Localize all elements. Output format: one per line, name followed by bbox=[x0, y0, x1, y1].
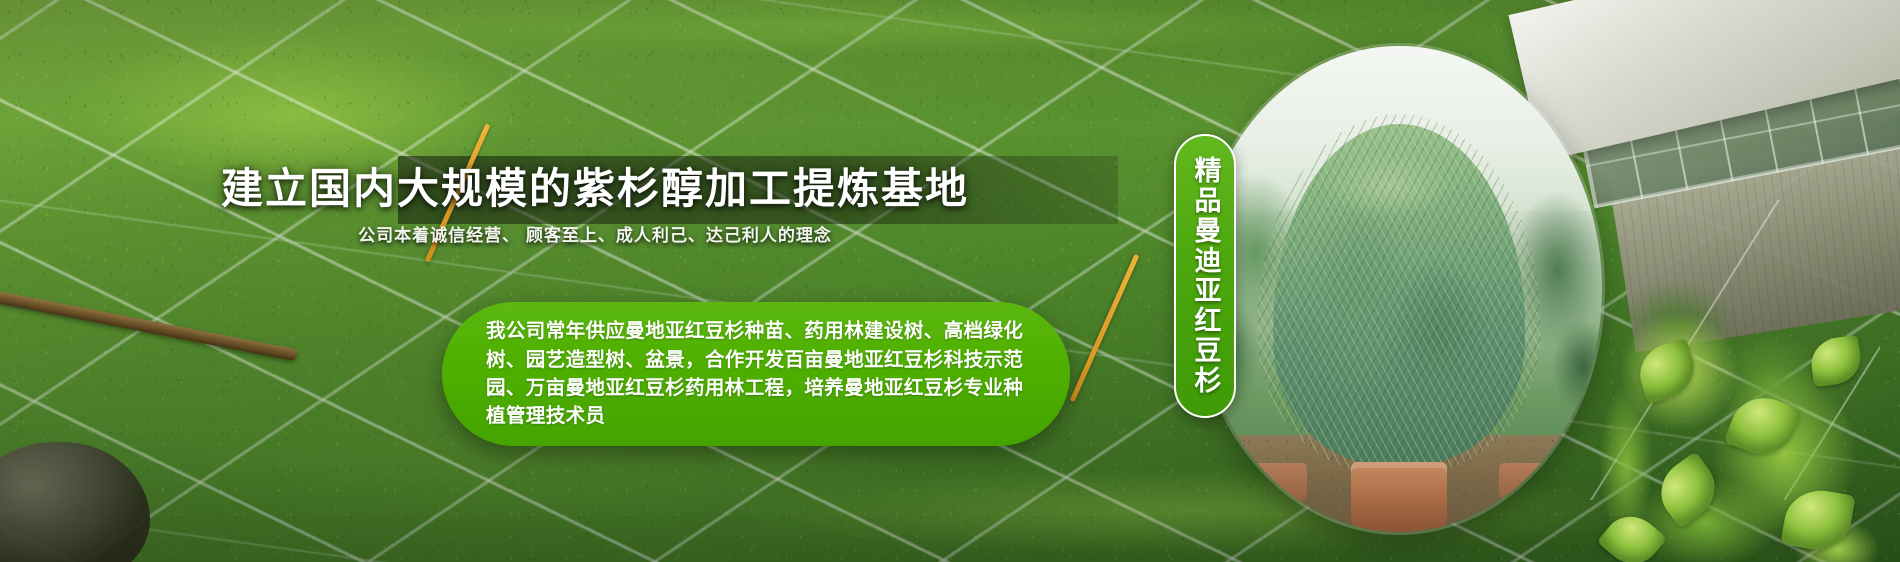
vertical-product-label: 精品曼迪亚红豆杉 bbox=[1174, 134, 1236, 418]
vine-leaf bbox=[1597, 505, 1668, 562]
promo-banner: 建立国内大规模的紫杉醇加工提炼基地 公司本着诚信经营、 顾客至上、成人利己、达己… bbox=[0, 0, 1900, 562]
photo-pot-small bbox=[1253, 463, 1307, 503]
vine-leaf bbox=[1723, 388, 1802, 465]
product-photo-circle bbox=[1196, 46, 1602, 532]
vine-leaf bbox=[1808, 335, 1864, 388]
grape-vine-foliage bbox=[1580, 272, 1900, 562]
promo-pill: 我公司常年供应曼地亚红豆杉种苗、药用林建设树、高档绿化树、园艺造型树、盆景，合作… bbox=[442, 302, 1070, 446]
vertical-label-text: 精品曼迪亚红豆杉 bbox=[1192, 156, 1219, 396]
vine-leaf bbox=[1633, 337, 1702, 404]
photo-main-pot bbox=[1351, 462, 1447, 532]
headline-overlay-band bbox=[398, 156, 1118, 224]
photo-pot-small bbox=[1499, 463, 1553, 503]
vine-leaf bbox=[1649, 452, 1728, 530]
promo-pill-text: 我公司常年供应曼地亚红豆杉种苗、药用林建设树、高档绿化树、园艺造型树、盆景，合作… bbox=[486, 317, 1026, 430]
vine-leaf bbox=[1780, 485, 1855, 556]
